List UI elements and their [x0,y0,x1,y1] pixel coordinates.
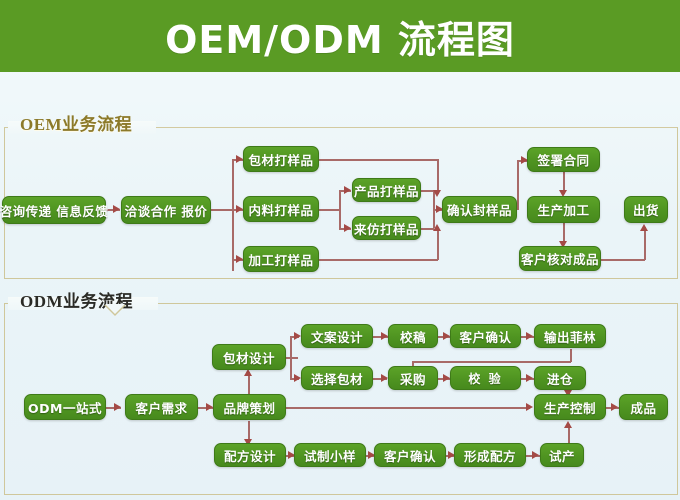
odm-node-customer-confirm-1[interactable]: 客户确认 [450,324,521,348]
oem-arrow [344,186,351,194]
odm-connector [286,407,530,409]
odm-arrow [443,374,450,382]
odm-arrow [244,369,252,376]
oem-arrow [433,224,441,231]
oem-connector [318,159,438,161]
odm-arrow [526,403,533,411]
oem-node-product-sample[interactable]: 产品打样品 [352,178,421,202]
oem-section-label: OEM业务流程 [14,110,138,135]
odm-arrow [532,451,539,459]
odm-node-warehouse[interactable]: 进仓 [534,366,586,390]
oem-node-production[interactable]: 生产加工 [527,196,600,223]
oem-connector [437,159,439,194]
odm-label-pointer-inner [105,304,125,314]
oem-connector [232,159,234,271]
title-banner-inner: OEM/ODM 流程图 [0,0,680,72]
odm-arrow [526,374,533,382]
oem-node-material-sample[interactable]: 内料打样品 [243,196,319,222]
oem-node-customer-check[interactable]: 客户核对成品 [519,246,601,271]
odm-arrow [114,403,121,411]
oem-node-sign-contract[interactable]: 签署合同 [527,147,600,172]
odm-connector [290,336,292,378]
odm-node-copy-design[interactable]: 文案设计 [301,324,373,348]
oem-connector [211,209,233,211]
oem-connector [437,227,439,260]
oem-node-pack-sample[interactable]: 包材打样品 [243,146,319,172]
odm-node-brand-plan[interactable]: 品牌策划 [213,394,286,420]
odm-arrow [443,332,450,340]
oem-node-copy-sample[interactable]: 来仿打样品 [352,216,421,240]
oem-arrow [640,224,648,231]
oem-connector [517,160,519,210]
flowchart-page: OEM/ODM 流程图 OEM业务流程 ODM业务流程 [0,0,680,500]
odm-node-trial-production[interactable]: 试产 [540,443,584,467]
odm-connector [412,361,571,363]
oem-connector [318,259,438,261]
odm-node-pack-design[interactable]: 包材设计 [212,344,286,370]
odm-arrow [381,374,388,382]
odm-node-form-formula[interactable]: 形成配方 [454,443,526,467]
oem-connector [318,209,340,211]
odm-arrow [294,374,301,382]
odm-arrow [381,332,388,340]
odm-arrow [611,403,618,411]
odm-node-one-stop[interactable]: ODM一站式 [24,394,106,420]
odm-arrow [206,403,213,411]
oem-connector [420,190,434,192]
odm-arrow [294,332,301,340]
oem-node-inquiry[interactable]: 咨询传递 信息反馈 [2,196,106,224]
odm-arrow [564,421,572,428]
oem-connector [601,259,645,261]
odm-node-trial-sample[interactable]: 试制小样 [294,443,366,467]
odm-node-proofread[interactable]: 校稿 [388,324,438,348]
oem-arrow [236,205,243,213]
oem-arrow [433,190,441,197]
oem-arrow [344,224,351,232]
odm-node-output-film[interactable]: 输出菲林 [534,324,606,348]
oem-node-negotiate[interactable]: 洽谈合作 报价 [121,196,211,224]
oem-connector [339,190,341,228]
odm-node-customer-confirm-2[interactable]: 客户确认 [374,443,446,467]
odm-node-select-pack[interactable]: 选择包材 [301,366,373,390]
oem-arrow [113,205,120,213]
odm-arrow [526,332,533,340]
oem-arrow [236,155,243,163]
odm-node-inspection[interactable]: 校 验 [450,366,521,390]
title-banner: OEM/ODM 流程图 [0,0,680,72]
oem-arrow [236,255,243,263]
oem-connector [644,227,646,260]
oem-node-process-sample[interactable]: 加工打样品 [243,246,319,272]
odm-node-production-control[interactable]: 生产控制 [534,394,606,420]
page-title: OEM/ODM 流程图 [165,9,515,64]
oem-node-shipment[interactable]: 出货 [624,196,668,223]
odm-node-customer-need[interactable]: 客户需求 [125,394,198,420]
oem-connector [420,228,434,230]
odm-node-finished-product[interactable]: 成品 [619,394,668,420]
odm-connector [286,357,298,359]
oem-node-confirm-seal[interactable]: 确认封样品 [442,196,517,223]
odm-node-formula-design[interactable]: 配方设计 [214,443,286,467]
odm-node-purchase[interactable]: 采购 [388,366,438,390]
